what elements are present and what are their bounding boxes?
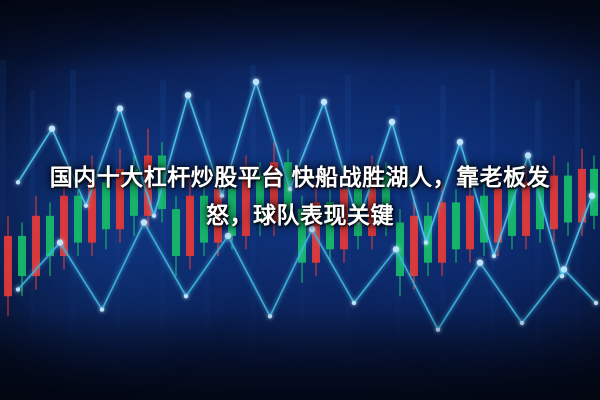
headline-line-1: 国内十大杠杆炒股平台 快船战胜湖人，靠老板发	[18, 158, 582, 196]
headline-line-2: 怒，球队表现关键	[18, 196, 582, 234]
headline-text: 国内十大杠杆炒股平台 快船战胜湖人，靠老板发 怒，球队表现关键	[0, 158, 600, 234]
banner-image: 国内十大杠杆炒股平台 快船战胜湖人，靠老板发 怒，球队表现关键	[0, 0, 600, 400]
